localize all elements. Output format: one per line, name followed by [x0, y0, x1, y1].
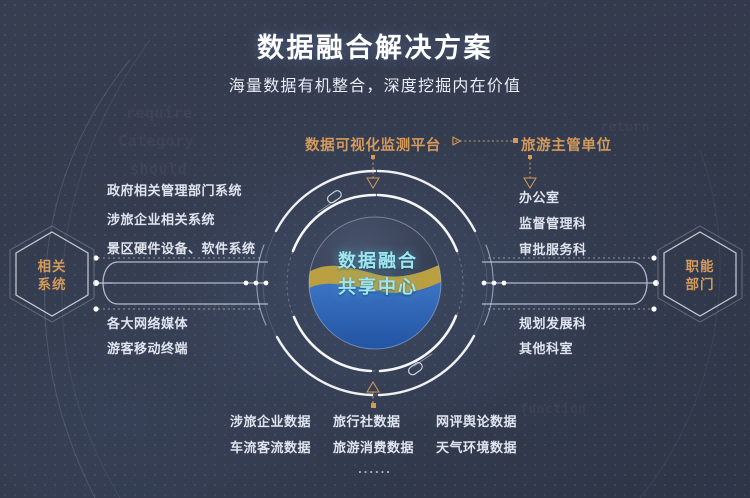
core-line1: 数据融合 — [298, 248, 458, 274]
left-item-tourist-mobile-terminal[interactable]: 游客移动终端 — [107, 338, 188, 357]
right-item-supervision-dept[interactable]: 监督管理科 — [519, 213, 587, 232]
right-item-other-depts[interactable]: 其他科室 — [519, 338, 573, 357]
hexagon-left-label[interactable]: 相关 系统 — [14, 258, 90, 294]
hexagon-left-line2: 系统 — [14, 276, 90, 294]
right-item-office[interactable]: 办公室 — [519, 187, 560, 206]
bottom-item-weather-env-data[interactable]: 天气环境数据 — [436, 437, 517, 456]
right-item-approval-service-dept[interactable]: 审批服务科 — [519, 239, 587, 258]
left-item-scenic-hardware-software[interactable]: 景区硬件设备、软件系统 — [107, 238, 256, 257]
bottom-item-travel-agency-data[interactable]: 旅行社数据 — [333, 411, 401, 430]
hexagon-right-label[interactable]: 职能 部门 — [662, 258, 738, 294]
right-item-planning-dev-dept[interactable]: 规划发展科 — [519, 313, 587, 332]
hexagon-left-line1: 相关 — [14, 258, 90, 276]
left-item-network-media[interactable]: 各大网络媒体 — [107, 313, 188, 332]
infographic-canvas: require Category should import function … — [0, 0, 750, 498]
core-label: 数据融合 共享中心 — [298, 248, 458, 300]
hexagon-right-line1: 职能 — [662, 258, 738, 276]
bottom-item-traffic-flow-data[interactable]: 车流客流数据 — [230, 437, 311, 456]
bottom-ellipsis: ...... — [0, 461, 750, 476]
left-item-tourism-enterprise-system[interactable]: 涉旅企业相关系统 — [107, 209, 215, 228]
bottom-item-consumption-data[interactable]: 旅游消费数据 — [333, 437, 414, 456]
bottom-item-enterprise-data[interactable]: 涉旅企业数据 — [230, 411, 311, 430]
bottom-item-public-opinion-data[interactable]: 网评舆论数据 — [436, 411, 517, 430]
left-item-gov-system[interactable]: 政府相关管理部门系统 — [107, 180, 242, 199]
core-line2: 共享中心 — [298, 274, 458, 300]
hexagon-right-line2: 部门 — [662, 276, 738, 294]
